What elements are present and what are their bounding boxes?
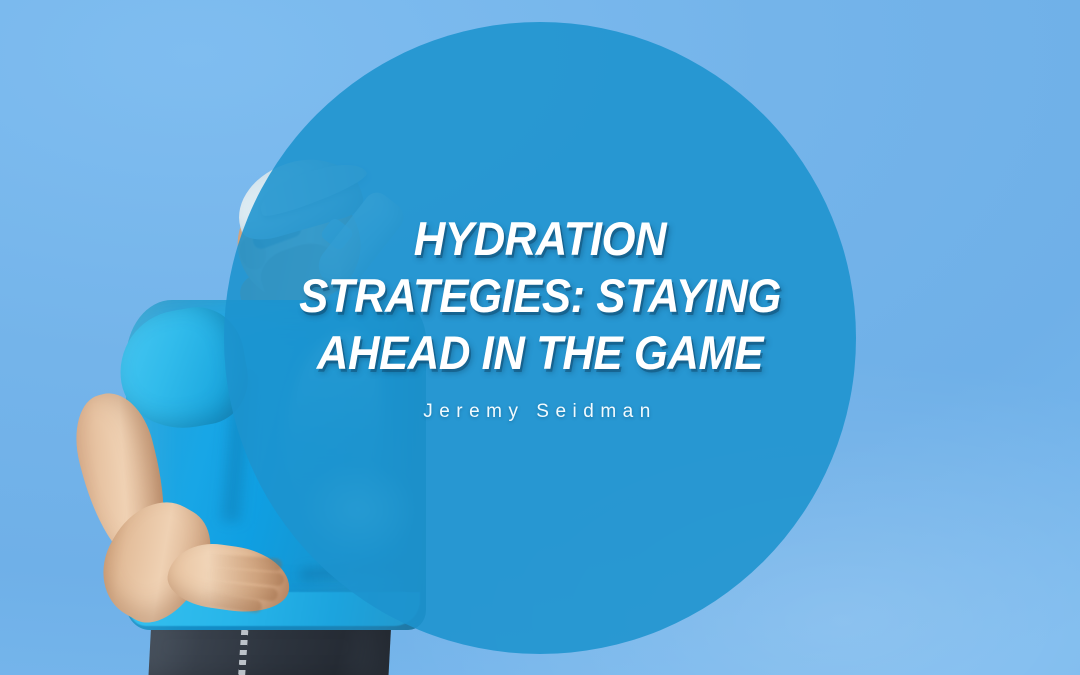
hero-byline-author: Jeremy Seidman [0, 401, 1080, 423]
hero-headline: HYDRATION STRATEGIES: STAYING AHEAD IN T… [38, 210, 1042, 381]
hero-text-block: HYDRATION STRATEGIES: STAYING AHEAD IN T… [0, 210, 1080, 423]
hero-banner: HYDRATION STRATEGIES: STAYING AHEAD IN T… [0, 0, 1080, 675]
